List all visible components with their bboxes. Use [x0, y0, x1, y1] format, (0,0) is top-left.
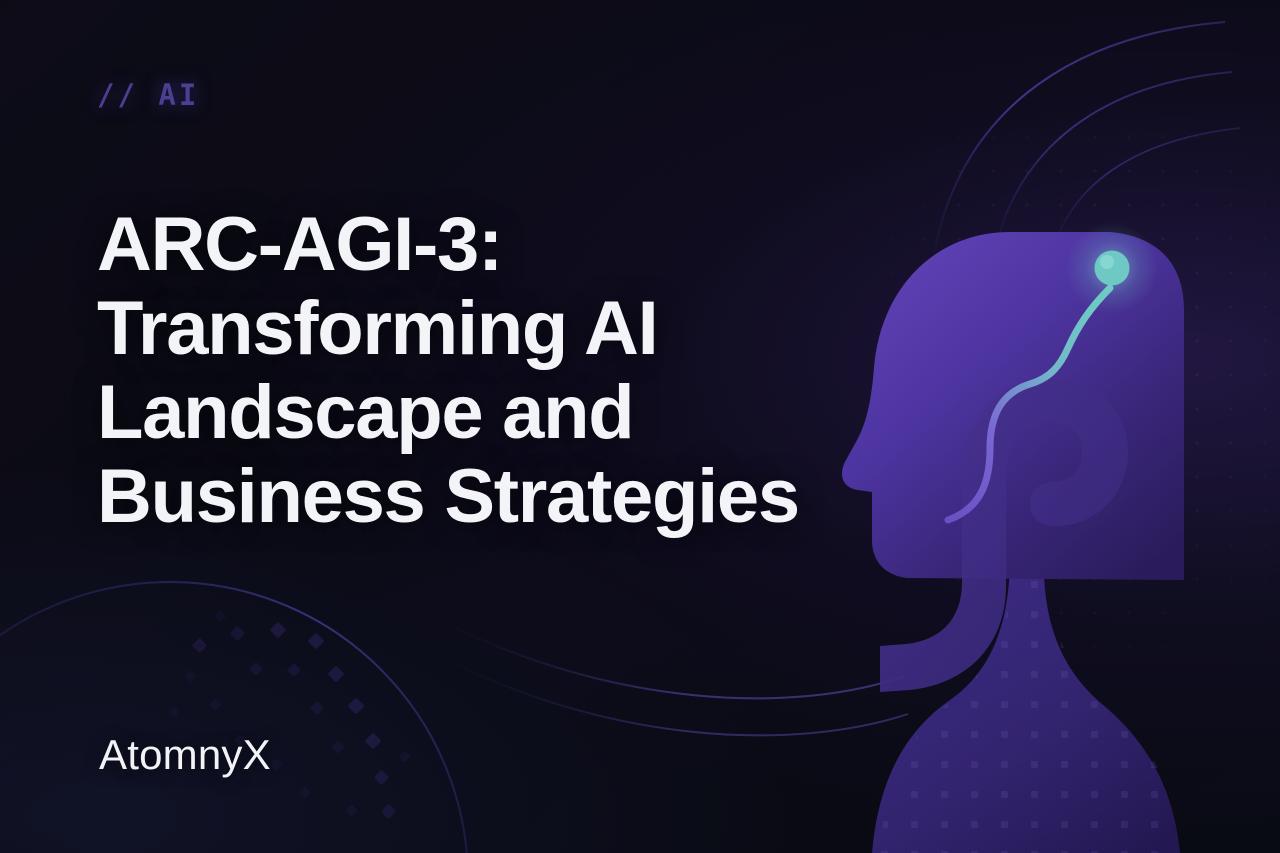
page-title-text: ARC-AGI-3: Transforming AI Landscape and… [97, 202, 799, 539]
eyebrow-label: // AI [97, 78, 199, 112]
page-title: ARC-AGI-3: Transforming AI Landscape and… [97, 203, 837, 539]
cover-canvas: // AI ARC-AGI-3: Transforming AI Landsca… [0, 0, 1280, 853]
brand-name: AtomnyX [99, 731, 271, 779]
